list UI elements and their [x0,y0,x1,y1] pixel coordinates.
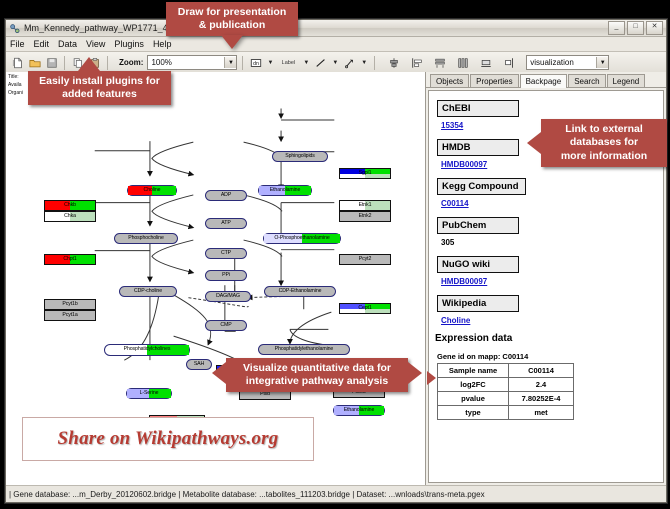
gene-node-sgpl1[interactable]: Sgpl1 [339,168,391,179]
node-label: Etnk2 [359,214,372,219]
menu-item-view[interactable]: View [86,39,105,49]
gene-node-pcyt1a[interactable]: Pcyt1a [44,310,96,321]
node-label: CDP-Ethanolamine [279,289,322,294]
node-label: SAH [194,362,204,367]
menu-item-data[interactable]: Data [58,39,77,49]
menu-bar: File Edit Data View Plugins Help [6,37,666,52]
window-controls[interactable]: _ □ ✕ [608,21,663,35]
node-label: Choline [144,188,161,193]
chevron-down-icon[interactable]: ▼ [303,60,309,66]
expression-data-title: Expression data [435,333,663,344]
svg-text:dn: dn [253,61,259,67]
node-label: Phosphocholine [128,236,164,241]
tab-properties[interactable]: Properties [470,74,518,87]
metabolite-node-choline[interactable]: Choline [127,185,177,196]
backpage-header: HMDB [437,139,519,156]
metabolite-node-sah[interactable]: SAH [186,359,212,370]
callout-plugins-line2: added features [39,88,160,101]
node-label: Pcyt2 [359,257,371,262]
callout-draw-line2: & publication [178,19,287,32]
gene-node-etnk2[interactable]: Etnk2 [339,211,391,222]
zoom-label: Zoom: [119,58,143,67]
visualization-combo[interactable]: visualization ▼ [526,55,609,70]
new-file-icon[interactable] [10,55,25,70]
table-row: typemet [438,406,574,420]
info-available-label: Availa [8,82,23,90]
chevron-down-icon[interactable]: ▼ [332,60,338,66]
share-text: Share on Wikipathways.org [58,428,279,450]
visualization-value: visualization [530,58,574,67]
save-icon[interactable] [44,55,59,70]
datanode-icon[interactable]: dn [248,55,263,70]
callout-draw-arrow-icon [221,35,243,49]
backpage-link[interactable]: C00114 [441,199,663,208]
backpage-section: NuGO wikiHMDB00097 [437,254,663,286]
menu-item-edit[interactable]: Edit [34,39,50,49]
backpage-section: PubChem305 [437,215,663,247]
align-bottom-icon[interactable] [478,55,493,70]
gene-node-pcyt2[interactable]: Pcyt2 [339,254,391,265]
table-cell-value: met [509,406,574,420]
node-label: PPi [222,273,230,278]
metabolite-node-ppi[interactable]: PPi [205,270,247,281]
callout-visualize-arrow-right-icon [408,362,422,384]
tab-backpage[interactable]: Backpage [520,74,568,88]
status-bar: | Gene database: ...m_Derby_20120602.bri… [6,485,666,502]
gene-node-cept1[interactable]: Cept1 [339,303,391,314]
callout-visualize: Visualize quantitative data for integrat… [226,358,408,392]
node-label: DAG/MAG [216,294,240,299]
table-row: Sample nameC00114 [438,364,574,378]
backpage-value: 305 [441,238,663,247]
callout-plugins-line1: Easily install plugins for [39,75,160,88]
backpage-header: Wikipedia [437,295,519,312]
title-bar: Mm_Kennedy_pathway_WP1771_45176.gpml _ □… [6,20,666,37]
backpage-header: Kegg Compound [437,178,526,195]
table-cell-key: pvalue [438,392,509,406]
metabolite-node-cmp[interactable]: CMP [205,320,247,331]
expression-data-table: Sample nameC00114log2FC2.4pvalue7.80252E… [437,363,574,420]
screenshot-root: Mm_Kennedy_pathway_WP1771_45176.gpml _ □… [0,0,670,509]
open-folder-icon[interactable] [27,55,42,70]
gene-id-line: Gene id on mapp: C00114 [437,352,663,361]
node-label: L-Serine [140,391,159,396]
metabolite-node-atp[interactable]: ATP [205,218,247,229]
node-label: Phosphatidylethanolamine [275,347,333,352]
gene-node-chka[interactable]: Chka [44,211,96,222]
toolbar-separator [242,56,243,70]
node-label: Chkb [64,203,76,208]
zoom-value: 100% [151,58,171,67]
maximize-button[interactable]: □ [627,21,644,35]
zoom-combo[interactable]: 100% ▼ [147,55,237,70]
status-text: | Gene database: ...m_Derby_20120602.bri… [9,490,485,499]
gene-node-etnk1[interactable]: Etnk1 [339,200,391,211]
align-center-icon[interactable] [386,55,401,70]
callout-draw-line1: Draw for presentation [178,6,287,19]
backpage-section: WikipediaCholine [437,293,663,325]
gene-node-chkb[interactable]: Chkb [44,200,96,211]
align-right-icon[interactable] [501,55,516,70]
label-button[interactable]: Label [277,55,299,70]
metabolite-node-ethanolamine[interactable]: Ethanolamine [333,405,385,416]
node-label: Sgpl1 [359,171,372,176]
node-label: Phosphatidylcholines [124,347,171,352]
tab-search[interactable]: Search [568,74,605,87]
gene-node-chpt1[interactable]: Chpt1 [44,254,96,265]
metabolite-node-ctp[interactable]: CTP [205,248,247,259]
metabolite-node-adp[interactable]: ADP [205,190,247,201]
callout-link: Link to external databases for more info… [541,119,667,167]
share-banner: Share on Wikipathways.org [22,417,314,461]
table-cell-value: 2.4 [509,378,574,392]
node-label: Etnk1 [359,203,372,208]
table-cell-value: 7.80252E-4 [509,392,574,406]
callout-link-line1: Link to external [561,123,647,136]
callout-draw: Draw for presentation & publication [166,2,298,36]
table-row: log2FC2.4 [438,378,574,392]
backpage-header: ChEBI [437,100,519,117]
toolbar-separator [107,56,108,70]
callout-link-arrow-icon [527,132,541,154]
pathway-info-labels: Title: Availa Organi [8,74,23,97]
arrow-connector-icon[interactable] [342,55,357,70]
metabolite-node-sphingolipids[interactable]: Sphingolipids [272,151,328,162]
metabolite-node-ethanolamine[interactable]: Ethanolamine [258,185,312,196]
metabolite-node-o-phosphoethanolamine[interactable]: O-Phosphoethanolamine [263,233,341,244]
metabolite-node-cdp-ethanolamine[interactable]: CDP-Ethanolamine [264,286,336,297]
callout-visualize-line1: Visualize quantitative data for [243,362,391,375]
tab-objects[interactable]: Objects [430,74,469,87]
metabolite-node-cdp-choline[interactable]: CDP-choline [119,286,177,297]
toolbar-separator [64,56,65,70]
table-cell-key: log2FC [438,378,509,392]
menu-item-help[interactable]: Help [153,39,172,49]
node-label: ATP [221,221,230,226]
node-label: Ethanolamine [270,188,301,193]
callout-expression-pointer-icon [427,371,436,385]
node-label: Pcyt1b [62,302,77,307]
callout-visualize-arrow-icon [212,362,226,384]
table-cell-value: C00114 [509,364,574,378]
chevron-down-icon[interactable]: ▼ [596,57,608,68]
toolbar-separator [374,56,375,70]
side-panel-tabs[interactable]: ObjectsPropertiesBackpageSearchLegend [426,72,666,88]
metabolite-node-l-serine[interactable]: L-Serine [126,388,172,399]
gene-node-pcyt1b[interactable]: Pcyt1b [44,299,96,310]
node-label: CMP [220,323,231,328]
backpage-header: NuGO wiki [437,256,519,273]
table-row: pvalue7.80252E-4 [438,392,574,406]
node-label: Pisd [260,392,270,397]
backpage-header: PubChem [437,217,519,234]
node-label: O-Phosphoethanolamine [274,236,329,241]
callout-link-line3: more information [561,150,647,163]
node-label: CTP [221,251,231,256]
minimize-button[interactable]: _ [608,21,625,35]
chevron-down-icon[interactable]: ▼ [267,60,273,66]
node-label: Chpt1 [63,257,76,262]
node-label: ADP [221,193,231,198]
metabolite-node-phosphatidylethanolamine[interactable]: Phosphatidylethanolamine [258,344,350,355]
table-cell-key: type [438,406,509,420]
callout-visualize-line2: integrative pathway analysis [243,375,391,388]
info-title-label: Title: [8,74,23,82]
chevron-down-icon[interactable]: ▼ [361,60,367,66]
backpage-section: Kegg CompoundC00114 [437,176,663,208]
metabolite-node-phosphocholine[interactable]: Phosphocholine [114,233,178,244]
backpage-link[interactable]: HMDB00097 [441,277,663,286]
line-icon[interactable] [313,55,328,70]
node-label: Sphingolipids [285,154,315,159]
pathvisio-app-icon [9,23,20,34]
callout-plugins: Easily install plugins for added feature… [28,71,171,105]
node-label: Ethanolamine [344,408,375,413]
menu-item-plugins[interactable]: Plugins [114,39,144,49]
chevron-down-icon[interactable]: ▼ [224,57,236,68]
close-button[interactable]: ✕ [646,21,663,35]
metabolite-node-dag-mag[interactable]: DAG/MAG [205,291,251,302]
tab-legend[interactable]: Legend [607,74,646,87]
node-label: Cept1 [358,306,371,311]
backpage-link[interactable]: Choline [441,316,663,325]
node-label: CDP-choline [134,289,162,294]
callout-plugins-arrow-icon [78,57,100,71]
metabolite-node-phosphatidylcholines[interactable]: Phosphatidylcholines [104,344,190,356]
node-label: Pcyt1a [62,313,77,318]
callout-link-line2: databases for [561,136,647,149]
align-left-icon[interactable] [409,55,424,70]
table-cell-key: Sample name [438,364,509,378]
align-stack-icon[interactable] [432,55,447,70]
node-label: Chka [64,214,76,219]
menu-item-file[interactable]: File [10,39,25,49]
info-organism-label: Organi [8,90,23,98]
align-columns-icon[interactable] [455,55,470,70]
